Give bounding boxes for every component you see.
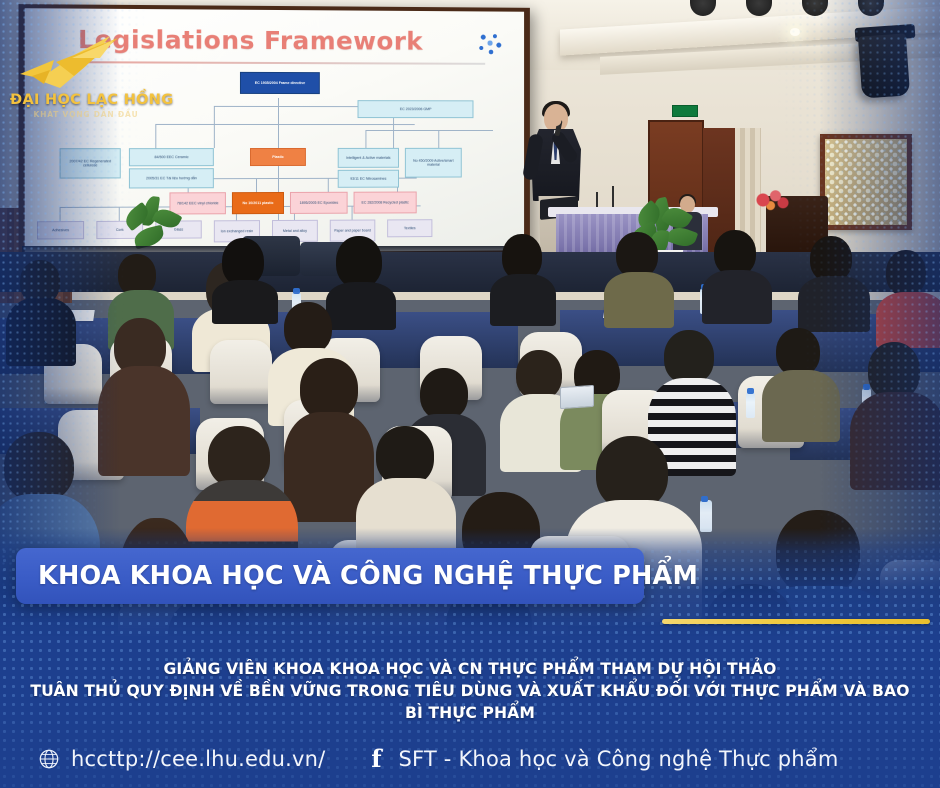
attendee-body [326, 282, 396, 330]
slide-logo-icon [477, 31, 502, 57]
flower-arrangement [748, 186, 798, 214]
flow-connector [214, 106, 215, 148]
wall-speaker [858, 33, 910, 98]
attendee-head [4, 432, 74, 502]
flow-box: 93/11 EC Nitrosamines [338, 170, 399, 188]
attendee-body [702, 270, 772, 324]
attendee-head [886, 250, 926, 296]
flow-box: 84/500 EEC Ceramic [129, 148, 214, 166]
attendee-body [604, 272, 674, 328]
attendee-head [284, 302, 332, 354]
event-line-2: TUÂN THỦ QUY ĐỊNH VỀ BỀN VỮNG TRONG TIÊU… [30, 680, 910, 724]
logo-name: ĐẠI HỌC LẠC HỒNG [10, 92, 162, 108]
attendee-body [762, 370, 840, 442]
flow-box: Plastic [250, 148, 306, 166]
facebook-link[interactable]: f SFT - Khoa học và Công nghệ Thực phẩm [365, 747, 838, 771]
website-link[interactable]: hccttp://cee.lhu.edu.vn/ [38, 747, 325, 771]
flow-connector [256, 178, 257, 192]
flow-box: 2007/42 EC Regenerated cellulose [60, 148, 121, 178]
attendee-head [516, 350, 562, 400]
attendee-body [850, 392, 940, 490]
flow-box: EC 2023/2006 GMP [358, 100, 474, 118]
attendee-head [776, 328, 820, 376]
event-line-1: GIẢNG VIÊN KHOA KHOA HỌC VÀ CN THỰC PHẨM… [30, 658, 910, 680]
spotlight-glow [790, 28, 800, 36]
flow-box: 1895/2005 EC Epoxides [290, 192, 348, 214]
flow-box: Intelligent & Active materials [338, 148, 399, 168]
footer: hccttp://cee.lhu.edu.vn/ f SFT - Khoa họ… [0, 736, 940, 782]
flow-box: EC 1935/2004 Frame directive [240, 72, 320, 94]
department-title: KHOA KHOA HỌC VÀ CÔNG NGHỆ THỰC PHẨM [16, 561, 698, 591]
department-banner: KHOA KHOA HỌC VÀ CÔNG NGHỆ THỰC PHẨM [16, 548, 644, 604]
flow-connector [365, 130, 493, 131]
attendee-head [420, 368, 468, 420]
flow-box: No 10/2011 plastic [232, 192, 284, 214]
poster: Legislations Framework [0, 0, 940, 788]
gold-divider [662, 619, 930, 624]
flow-connector [365, 130, 366, 148]
attendee-head [208, 426, 270, 488]
attendee-body [490, 274, 556, 326]
facebook-icon: f [365, 747, 387, 771]
attendee-head [300, 358, 358, 420]
flow-box: No 450/2009 Active/smart material [405, 148, 462, 178]
flow-connector [60, 207, 61, 221]
laptop [560, 385, 594, 409]
attendee-body [98, 366, 190, 476]
lattice-pattern [825, 139, 907, 225]
attendee-head [664, 330, 714, 384]
attendee-head [376, 426, 434, 486]
plane-arrow-icon [14, 36, 126, 98]
website-url: hccttp://cee.lhu.edu.vn/ [71, 747, 325, 771]
attendee-head [596, 436, 668, 510]
attendee-body [212, 280, 278, 324]
attendee-body [798, 276, 870, 332]
chair [210, 340, 272, 404]
flow-connector [155, 124, 414, 125]
flow-connector [328, 178, 329, 192]
attendee-body [6, 298, 76, 366]
flow-box: Textiles [387, 219, 432, 237]
event-description: GIẢNG VIÊN KHOA KHOA HỌC VÀ CN THỰC PHẨM… [30, 658, 910, 724]
attendee-head [222, 238, 264, 286]
water-bottle [746, 392, 755, 418]
flow-connector [438, 130, 439, 148]
flow-box: EC 282/2008 Recycled plastic [354, 192, 417, 214]
flow-box: Adhesives [37, 221, 84, 239]
attendee-head [336, 236, 382, 288]
flow-connector [155, 124, 156, 148]
attendee-body [876, 292, 940, 348]
university-logo: ĐẠI HỌC LẠC HỒNG KHÁT VỌNG DẪN ĐẦU [6, 36, 164, 124]
logo-tagline: KHÁT VỌNG DẪN ĐẦU [10, 110, 162, 119]
exit-sign [672, 105, 698, 117]
flow-connector [352, 206, 353, 220]
globe-icon [38, 748, 60, 770]
facebook-page-name: SFT - Khoa học và Công nghệ Thực phẩm [398, 747, 838, 771]
lattice-window [820, 134, 912, 230]
flow-box: 2005/31 EC Tài liệu hướng dẫn [129, 168, 214, 188]
